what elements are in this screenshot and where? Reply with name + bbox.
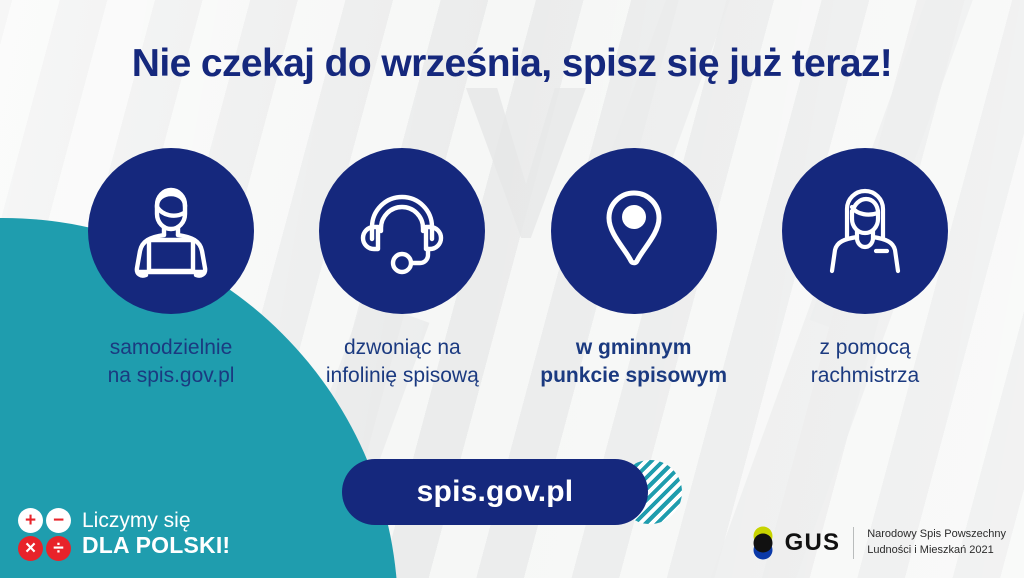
census-taker-icon bbox=[813, 179, 917, 283]
campaign-tagline-line2: DLA POLSKI! bbox=[82, 533, 230, 559]
page-title: Nie czekaj do września, spisz się już te… bbox=[0, 42, 1024, 86]
gus-logo: GUS Narodowy Spis Powszechny Ludności i … bbox=[750, 526, 1006, 560]
option-icon-circle bbox=[551, 148, 717, 314]
option-label: z pomocą rachmistrza bbox=[811, 334, 920, 389]
multiply-icon: × bbox=[18, 536, 43, 561]
option-label: dzwoniąc na infolinię spisową bbox=[326, 334, 479, 389]
poster-canvas: Nie czekaj do września, spisz się już te… bbox=[0, 0, 1024, 578]
option-phone-hotline[interactable]: dzwoniąc na infolinię spisową bbox=[293, 148, 511, 389]
option-icon-circle bbox=[319, 148, 485, 314]
campaign-logo-text: Liczymy się DLA POLSKI! bbox=[82, 510, 230, 558]
spis-gov-pl-button[interactable]: spis.gov.pl bbox=[342, 459, 648, 525]
divide-icon: ÷ bbox=[46, 536, 71, 561]
plus-icon: + bbox=[18, 508, 43, 533]
gus-wordmark: GUS bbox=[785, 529, 841, 557]
option-label: samodzielnie na spis.gov.pl bbox=[108, 334, 235, 389]
option-icon-circle bbox=[782, 148, 948, 314]
campaign-logo: + − × ÷ Liczymy się DLA POLSKI! bbox=[18, 508, 230, 561]
person-at-laptop-icon bbox=[119, 179, 223, 283]
option-census-taker[interactable]: z pomocą rachmistrza bbox=[756, 148, 974, 389]
cta-area: spis.gov.pl bbox=[342, 459, 682, 525]
logo-divider bbox=[853, 527, 854, 559]
option-icon-circle bbox=[88, 148, 254, 314]
headset-icon bbox=[350, 179, 454, 283]
campaign-tagline-line1: Liczymy się bbox=[82, 510, 230, 533]
option-label: w gminnym punkcie spisowym bbox=[540, 334, 727, 389]
gus-circles-icon bbox=[750, 526, 776, 560]
census-subtitle: Narodowy Spis Powszechny Ludności i Mies… bbox=[867, 527, 1006, 558]
option-self-online[interactable]: samodzielnie na spis.gov.pl bbox=[62, 148, 280, 389]
options-row: samodzielnie na spis.gov.pl bbox=[62, 148, 974, 389]
minus-icon: − bbox=[46, 508, 71, 533]
option-municipal-point[interactable]: w gminnym punkcie spisowym bbox=[525, 148, 743, 389]
operator-icons: + − × ÷ bbox=[18, 508, 71, 561]
map-pin-icon bbox=[582, 179, 686, 283]
